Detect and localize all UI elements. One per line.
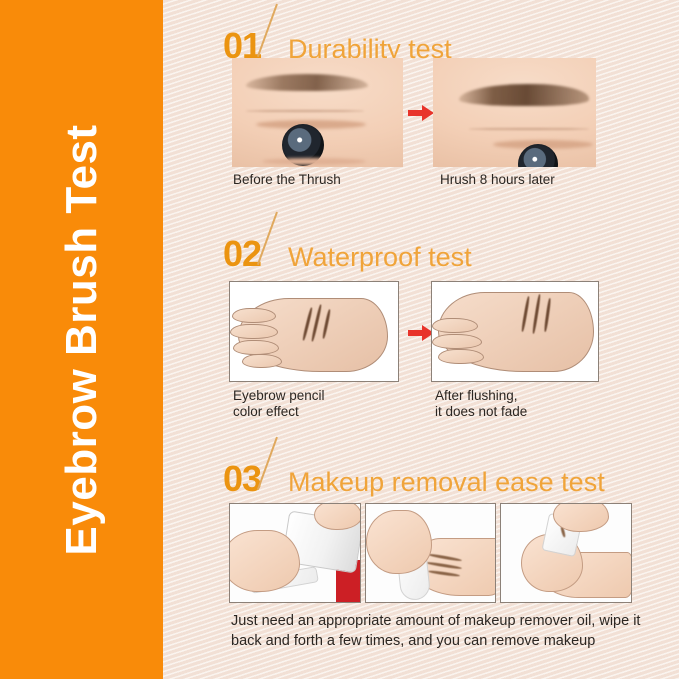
lower-eyelid xyxy=(262,158,366,165)
section-header-02: 02 Waterproof test xyxy=(223,218,472,272)
finger-2 xyxy=(432,334,482,349)
section-number-03: 03 xyxy=(223,461,261,497)
hand-swatch-photo xyxy=(229,281,399,382)
section-title-02: Waterproof test xyxy=(288,244,472,271)
eye-before-caption: Before the Thrush xyxy=(233,172,341,188)
content-column: 01 Durability test Before the Thrush Hru… xyxy=(163,0,679,679)
removal-instruction-caption: Just need an appropriate amount of makeu… xyxy=(231,611,655,651)
finger-2 xyxy=(230,324,278,339)
finger-3 xyxy=(233,340,279,355)
hand-holding-bottle xyxy=(229,530,300,592)
eye-after-photo xyxy=(433,58,596,167)
hand-upper xyxy=(314,503,361,530)
eye-before-photo xyxy=(232,58,403,167)
hand-after-water-caption: After flushing, it does not fade xyxy=(435,388,527,419)
section-header-03: 03 Makeup removal ease test xyxy=(223,443,605,497)
hand-swatch-caption: Eyebrow pencil color effect xyxy=(233,388,325,419)
skin-layer xyxy=(433,58,596,167)
pour-remover-photo xyxy=(229,503,361,603)
sidebar-banner: Eyebrow Brush Test xyxy=(0,0,163,679)
right-arrow-icon xyxy=(408,105,434,121)
eyebrow-shape xyxy=(246,74,368,91)
eye-after-caption: Hrush 8 hours later xyxy=(440,172,555,188)
product-infographic: Eyebrow Brush Test 01 Durability test xyxy=(0,0,679,679)
hand-after-water-photo xyxy=(431,281,599,382)
section-number-02: 02 xyxy=(223,236,261,272)
slash-divider-icon xyxy=(262,218,292,266)
slash-divider-icon xyxy=(262,10,292,58)
section-title-03: Makeup removal ease test xyxy=(288,469,605,496)
sidebar-title: Eyebrow Brush Test xyxy=(60,124,104,555)
section-header-01: 01 Durability test xyxy=(223,10,452,64)
eyelid-crease xyxy=(469,128,589,130)
removed-makeup-photo xyxy=(500,503,632,603)
hand-holding-pad xyxy=(366,510,432,574)
wipe-hand-photo xyxy=(365,503,496,603)
eyelid-crease xyxy=(246,110,364,112)
finger-3 xyxy=(438,349,484,364)
finger-1 xyxy=(232,308,276,323)
finger-1 xyxy=(432,318,478,333)
slash-divider-icon xyxy=(262,443,292,491)
finger-4 xyxy=(242,354,282,368)
